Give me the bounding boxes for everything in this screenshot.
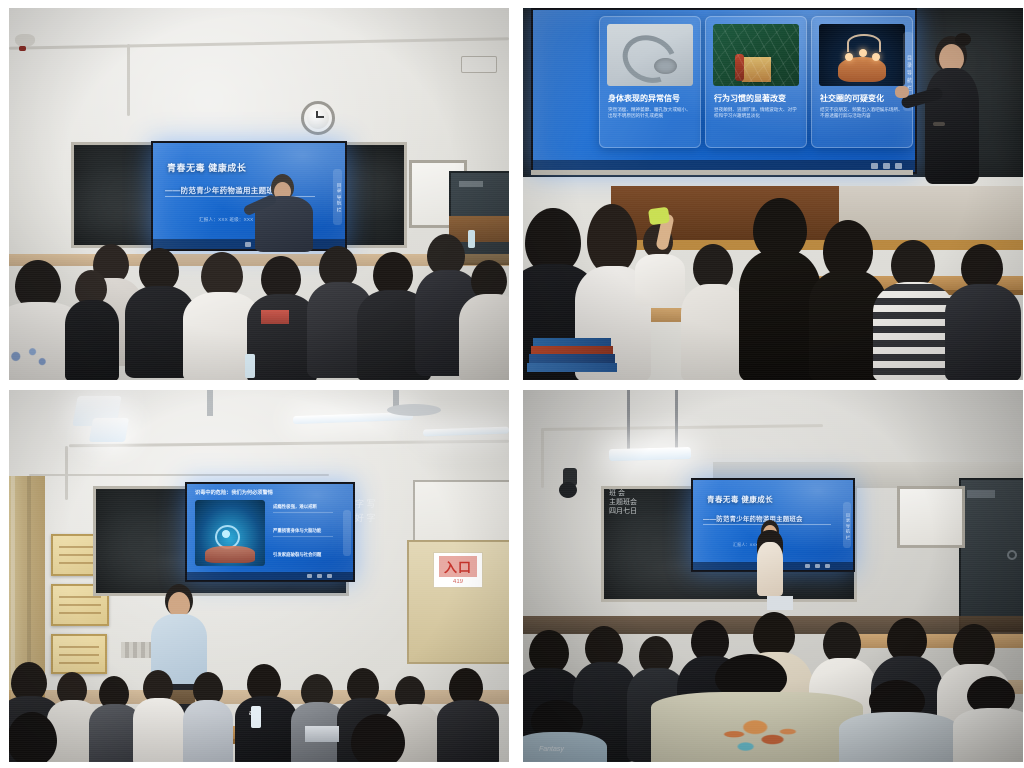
card-title: 行为习惯的显著改变 [714, 93, 786, 104]
entrance-sign-sublabel: 419 [453, 579, 463, 585]
slide-bullet-title: 引发家庭破裂与社会问题 [273, 552, 321, 558]
card-image [819, 24, 905, 86]
student-back [91, 676, 137, 762]
screen-frame-bottom [531, 170, 913, 175]
card-image [713, 24, 799, 86]
student-back [187, 252, 253, 380]
security-camera-icon [15, 34, 35, 47]
slide-side-tab[interactable] [343, 510, 351, 556]
teacher-pointing [911, 36, 989, 186]
student-back [439, 668, 495, 762]
student-back: alo [237, 664, 293, 762]
slide-side-tab[interactable]: 目录 导航 栏 [843, 502, 851, 548]
light-rod [675, 390, 678, 450]
honor-certificate [51, 634, 107, 674]
water-bottle [245, 354, 255, 378]
student-back [69, 270, 113, 380]
female-speaker [749, 520, 789, 596]
info-card[interactable]: 社交圈的可疑变化 结交不良朋友、频繁出入酒吧娱乐场所、不愿透露行踪与活动内容 [811, 16, 913, 148]
entrance-sign-label: 入口 [439, 556, 477, 577]
wall-conduit-drop [127, 44, 130, 116]
student-back [361, 252, 423, 380]
student-back [683, 244, 743, 380]
student-foreground [839, 696, 959, 762]
light-rod [627, 390, 630, 450]
card-title: 社交圈的可疑变化 [820, 93, 884, 104]
stacked-books [529, 354, 615, 363]
info-card[interactable]: 行为习惯的显著改变 昼夜颠倒、逃课旷课、情绪波动大、对学校和学习兴趣明显淡化 [705, 16, 807, 148]
wall-conduit-drop [65, 446, 68, 500]
panel-bottom-right[interactable]: 班 会主题班会四月七日 青春无毒 健康成长 ——防范青少年药物滥用主题班会 汇报… [523, 390, 1023, 762]
student-back [947, 244, 1017, 380]
panel-bottom-left[interactable]: 识毒中的危险：我们为何必须警惕 成瘾性极强，难以戒断 严重损害身体与大脑功能 引… [9, 390, 509, 762]
wall-conduit-drop [541, 428, 544, 488]
teacher-hand [895, 86, 909, 98]
student-back [135, 670, 181, 762]
student-foreground [9, 712, 69, 762]
stacked-books [305, 726, 339, 742]
projector [461, 56, 497, 73]
blackboard-chalk-text: 班 会主题班会四月七日 [609, 490, 637, 516]
presentation-screen[interactable]: 识毒中的危险：我们为何必须警惕 成瘾性极强，难以戒断 严重损害身体与大脑功能 引… [185, 482, 355, 582]
camera-led [19, 46, 26, 51]
slide-title: 识毒中的危险：我们为何必须警惕 [195, 489, 273, 496]
entrance-sign: 入口 419 [433, 552, 483, 588]
tee-print-graphic [713, 714, 809, 758]
podium-box [767, 596, 793, 610]
student-graphic-tee [651, 678, 863, 762]
held-item [648, 207, 670, 226]
wristwatch [933, 122, 945, 126]
student-back [185, 672, 229, 762]
shirt-print [9, 346, 51, 372]
wall-conduit [29, 474, 329, 476]
slide-image [195, 500, 265, 566]
stacked-books [531, 346, 613, 354]
stacked-books [533, 338, 611, 346]
card-body: 突然消瘦、精神萎靡、瞳孔放大或缩小、出现不明原因的针孔或疤痕 [608, 107, 692, 119]
slide-title: 青春无毒 健康成长 [167, 161, 246, 174]
student-back [461, 260, 509, 380]
ceiling-light-tube [609, 447, 691, 461]
water-bottle [251, 706, 261, 728]
slide-bullet-title: 成瘾性极强，难以戒断 [273, 504, 317, 510]
ceiling-fan-blade [387, 404, 441, 416]
student-foreground [339, 714, 417, 762]
student-back [127, 248, 191, 376]
student-foreground [953, 690, 1023, 762]
stacked-books [527, 363, 617, 372]
slide-side-tab[interactable]: 目录 导航 栏 [333, 169, 342, 225]
student-plaid-shirt [875, 240, 951, 380]
slide-bullet-title: 严重损害身体与大脑功能 [273, 528, 321, 534]
dark-door [959, 478, 1023, 632]
wall-speaker [559, 482, 577, 498]
student-raising-hand [633, 212, 685, 304]
student-foreground: Fantasy [523, 710, 607, 762]
panel-top-right[interactable]: 身体表现的异常信号 突然消瘦、精神萎靡、瞳孔放大或缩小、出现不明原因的针孔或疤痕… [523, 8, 1023, 380]
hair-bun [955, 33, 971, 46]
presentation-screen[interactable]: 身体表现的异常信号 突然消瘦、精神萎靡、瞳孔放大或缩小、出现不明原因的针孔或疤痕… [531, 8, 917, 174]
info-card[interactable]: 身体表现的异常信号 突然消瘦、精神萎靡、瞳孔放大或缩小、出现不明原因的针孔或疤痕 [599, 16, 701, 148]
stacked-books [261, 310, 289, 324]
card-body: 结交不良朋友、频繁出入酒吧娱乐场所、不愿透露行踪与活动内容 [820, 107, 904, 119]
ceiling-fan-rod [207, 390, 213, 416]
presenter-pointing [245, 174, 317, 250]
student-back [293, 674, 341, 762]
ceiling-light-tube [89, 418, 129, 442]
wall-chalk-text: 字 写好 字 [355, 498, 376, 525]
slide-title: 青春无毒 健康成长 [707, 494, 773, 505]
small-whiteboard [897, 486, 965, 548]
panel-top-left[interactable]: 青春无毒 健康成长 ——防范青少年药物滥用主题班会 汇报人：XXX 班级：XXX… [9, 8, 509, 380]
card-image [607, 24, 693, 86]
card-body: 昼夜颠倒、逃课旷课、情绪波动大、对学校和学习兴趣明显淡化 [714, 107, 798, 119]
wall-clock [301, 101, 335, 135]
screen-taskbar[interactable] [187, 572, 353, 580]
card-title: 身体表现的异常信号 [608, 93, 680, 104]
photo-collage: 青春无毒 健康成长 ——防范青少年药物滥用主题班会 汇报人：XXX 班级：XXX… [0, 0, 1024, 768]
